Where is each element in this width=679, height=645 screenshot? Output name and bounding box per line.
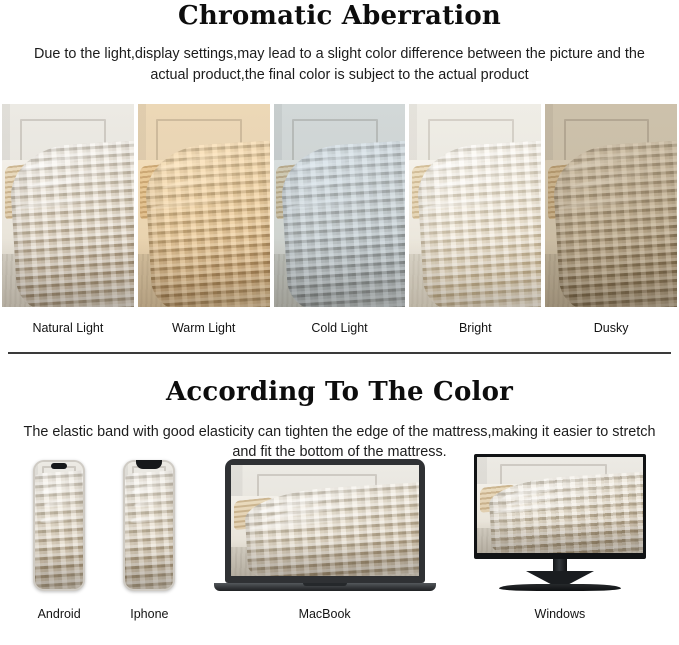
iphone-screen xyxy=(125,462,173,589)
section-according-to-the-color: According To The Color The elastic band … xyxy=(0,378,679,622)
swatch-warm-light[interactable] xyxy=(138,104,270,307)
device-iphone[interactable]: Iphone xyxy=(123,460,175,621)
swatch-photo-cold-light xyxy=(274,104,406,307)
android-screen xyxy=(35,462,83,589)
device-macbook[interactable]: MacBook xyxy=(214,459,436,621)
device-label-android: Android xyxy=(38,607,81,621)
monitor-screen xyxy=(477,457,643,553)
swatch-label-warm-light: Warm Light xyxy=(138,321,270,335)
section-color-title: According To The Color xyxy=(0,378,679,408)
notch-icon xyxy=(136,460,162,469)
camera-cutout-icon xyxy=(51,463,67,469)
swatch-label-cold-light: Cold Light xyxy=(274,321,406,335)
section-divider xyxy=(8,352,671,354)
swatch-photo-bright xyxy=(409,104,541,307)
macbook-lid xyxy=(225,459,425,583)
monitor-foot xyxy=(499,584,621,591)
android-phone-mockup xyxy=(33,460,85,591)
swatch-label-dusky: Dusky xyxy=(545,321,677,335)
swatch-bright[interactable] xyxy=(409,104,541,307)
device-android[interactable]: Android xyxy=(33,460,85,621)
monitor-panel xyxy=(474,454,646,559)
device-windows[interactable]: Windows xyxy=(474,454,646,621)
device-label-iphone: Iphone xyxy=(130,607,168,621)
swatch-natural-light[interactable] xyxy=(2,104,134,307)
swatch-photo-warm-light xyxy=(138,104,270,307)
iphone-mockup xyxy=(123,460,175,591)
swatch-label-natural-light: Natural Light xyxy=(2,321,134,335)
page-title: Chromatic Aberration xyxy=(0,2,679,32)
chromatic-description: Due to the light,display settings,may le… xyxy=(0,44,679,86)
device-label-windows: Windows xyxy=(535,607,586,621)
color-swatch-strip xyxy=(0,104,679,307)
device-preview-strip: Android Iphone xyxy=(0,481,679,621)
macbook-screen xyxy=(231,465,419,576)
swatch-dusky[interactable] xyxy=(545,104,677,307)
device-label-macbook: MacBook xyxy=(299,607,351,621)
swatch-photo-natural-light xyxy=(2,104,134,307)
macbook-mockup xyxy=(214,459,436,591)
swatch-photo-dusky xyxy=(545,104,677,307)
swatch-label-bright: Bright xyxy=(409,321,541,335)
macbook-base xyxy=(214,583,436,591)
swatch-cold-light[interactable] xyxy=(274,104,406,307)
windows-monitor-mockup xyxy=(474,454,646,591)
section-chromatic-aberration: Chromatic Aberration Due to the light,di… xyxy=(0,0,679,335)
swatch-label-row: Natural Light Warm Light Cold Light Brig… xyxy=(0,307,679,335)
